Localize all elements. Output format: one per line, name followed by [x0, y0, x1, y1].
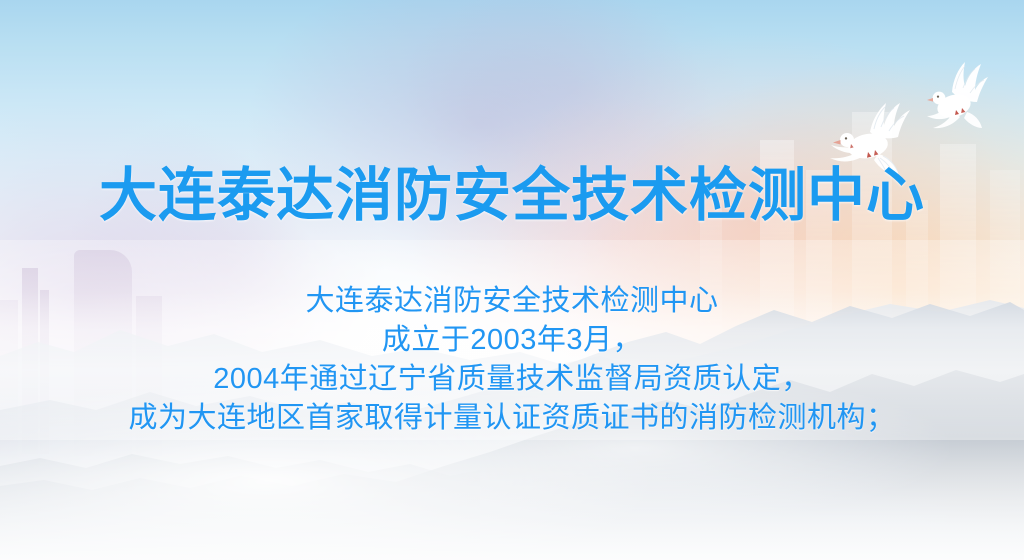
- presentation-slide: 大连泰达消防安全技术检测中心 大连泰达消防安全技术检测中心 成立于2003年3月…: [0, 0, 1024, 560]
- body-line: 成立于2003年3月，: [0, 321, 1024, 360]
- body-line: 大连泰达消防安全技术检测中心: [0, 282, 1024, 321]
- body-line: 成为大连地区首家取得计量认证资质证书的消防检测机构；: [0, 399, 1024, 438]
- body-line: 2004年通过辽宁省质量技术监督局资质认定，: [0, 360, 1024, 399]
- slide-content: 大连泰达消防安全技术检测中心 大连泰达消防安全技术检测中心 成立于2003年3月…: [0, 0, 1024, 560]
- slide-title: 大连泰达消防安全技术检测中心: [0, 166, 1024, 226]
- slide-body-text: 大连泰达消防安全技术检测中心 成立于2003年3月， 2004年通过辽宁省质量技…: [0, 282, 1024, 438]
